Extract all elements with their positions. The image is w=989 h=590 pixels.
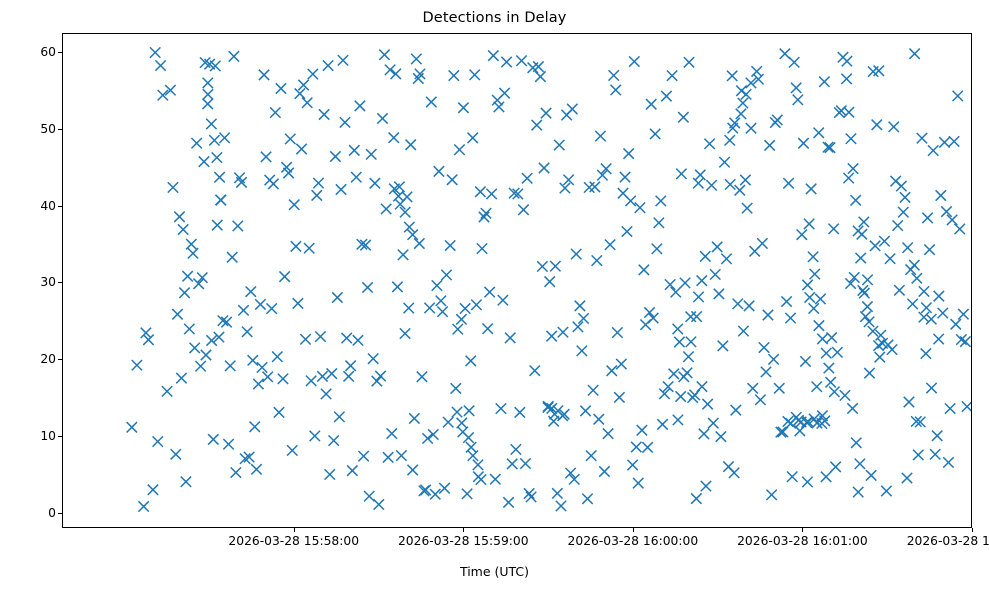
scatter-point [208,434,218,444]
scatter-point [702,399,712,409]
scatter-point [676,169,686,179]
scatter-point [327,368,337,378]
y-tick-label: 40 [10,199,56,213]
scatter-point [188,248,198,258]
scatter-point [875,352,885,362]
scatter-point [902,473,912,483]
scatter-point [387,428,397,438]
scatter-point [225,361,235,371]
scatter-point [306,376,316,386]
scatter-point [428,429,438,439]
scatter-point [693,292,703,302]
scatter-point [406,140,416,150]
scatter-point [436,296,446,306]
scatter-point [951,319,961,329]
scatter-point [586,451,596,461]
scatter-point [855,459,865,469]
scatter-point [178,224,188,234]
scatter-point [567,104,577,114]
scatter-point [383,452,393,462]
scatter-point [578,313,588,323]
scatter-point [372,376,382,386]
scatter-point [805,292,815,302]
scatter-point [366,149,376,159]
scatter-point [496,403,506,413]
scatter-point [791,83,801,93]
scatter-point [515,407,525,417]
scatter-point [546,331,556,341]
scatter-point [298,80,308,90]
scatter-point [349,145,359,155]
scatter-point [355,101,365,111]
scatter-point [924,244,934,254]
scatter-point [823,142,833,152]
scatter-point [368,353,378,363]
scatter-point [746,123,756,133]
x-axis-label: Time (UTC) [0,564,989,579]
scatter-point [633,478,643,488]
scatter-point [516,56,526,66]
scatter-point [661,91,671,101]
scatter-point [201,350,211,360]
scatter-point [392,282,402,292]
scatter-point [699,429,709,439]
scatter-point [272,352,282,362]
scatter-point [186,239,196,249]
scatter-point [864,317,874,327]
scatter-point [475,187,485,197]
scatter-point [853,226,863,236]
scatter-point [155,60,165,70]
chart-title: Detections in Delay [0,10,989,26]
scatter-point [499,88,509,98]
scatter-point [943,457,953,467]
scatter-point [582,494,592,504]
scatter-point [798,138,808,148]
scatter-point [449,70,459,80]
scatter-point [214,172,224,182]
scatter-point [270,107,280,117]
scatter-point [704,139,714,149]
scatter-point [729,468,739,478]
scatter-point [656,196,666,206]
scatter-point [611,85,621,95]
scatter-point [554,140,564,150]
scatter-point [691,493,701,503]
scatter-point [463,432,473,442]
scatter-point [505,333,515,343]
scatter-series-detections [63,34,971,527]
scatter-point [764,140,774,150]
scatter-point [580,406,590,416]
scatter-point [889,122,899,132]
scatter-point [776,427,786,437]
scatter-point [454,145,464,155]
scatter-point [251,464,261,474]
scatter-point [781,296,791,306]
scatter-point [250,422,260,432]
scatter-point [616,359,626,369]
scatter-point [315,331,325,341]
scatter-point [697,275,707,285]
scatter-point [700,251,710,261]
scatter-point [518,205,528,215]
scatter-point [637,425,647,435]
scatter-point [665,279,675,289]
scatter-point [936,190,946,200]
scatter-point [456,314,466,324]
scatter-point [774,383,784,393]
scatter-point [757,238,767,248]
scatter-point [909,49,919,59]
scatter-point [257,362,267,372]
scatter-point [263,372,273,382]
scatter-point [623,148,633,158]
scatter-point [783,178,793,188]
scatter-point [898,207,908,217]
scatter-point [498,295,508,305]
scatter-point [396,450,406,460]
scatter-point [588,385,598,395]
scatter-point [802,280,812,290]
scatter-point [453,324,463,334]
scatter-point [343,371,353,381]
scatter-point [341,333,351,343]
scatter-point [919,312,929,322]
scatter-point [849,272,859,282]
scatter-point [934,291,944,301]
scatter-point [913,450,923,460]
scatter-point [353,335,363,345]
scatter-point [414,238,424,248]
scatter-point [590,182,600,192]
scatter-point [490,474,500,484]
scatter-point [522,173,532,183]
scatter-point [697,381,707,391]
scatter-point [268,179,278,189]
scatter-point [302,98,312,108]
scatter-point [654,218,664,228]
scatter-point [844,107,854,117]
scatter-point [603,428,613,438]
scatter-point [150,47,160,57]
scatter-point [432,280,442,290]
scatter-point [209,135,219,145]
scatter-point [814,320,824,330]
scatter-point [691,311,701,321]
scatter-point [817,334,827,344]
scatter-point [278,374,288,384]
scatter-point [530,365,540,375]
scatter-point [552,488,562,498]
scatter-point [644,307,654,317]
scatter-point [825,142,835,152]
scatter-point [153,436,163,446]
scatter-point [763,310,773,320]
scatter-point [797,229,807,239]
scatter-point [738,326,748,336]
scatter-point [740,175,750,185]
scatter-point [524,488,534,498]
x-tick-label: 2026-03-28 16:02:00 [862,534,989,548]
scatter-point [537,261,547,271]
scatter-point [945,403,955,413]
scatter-point [894,285,904,295]
scatter-point [789,57,799,67]
scatter-point [336,184,346,194]
plot-area [62,33,972,528]
scatter-point [351,172,361,182]
scatter-point [189,343,199,353]
scatter-point [244,452,254,462]
scatter-point [904,397,914,407]
scatter-point [650,129,660,139]
scatter-point [289,200,299,210]
scatter-point [219,133,229,143]
scatter-point [701,481,711,491]
scatter-point [804,219,814,229]
x-tick-mark [633,528,634,532]
scatter-point [330,151,340,161]
y-tick-label: 10 [10,429,56,443]
scatter-point [642,442,652,452]
scatter-point [340,117,350,127]
scatter-point [255,299,265,309]
scatter-point [246,286,256,296]
scatter-point [846,133,856,143]
scatter-point [885,253,895,263]
scatter-point [848,163,858,173]
scatter-point [171,449,181,459]
scatter-point [535,71,545,81]
scatter-point [605,239,615,249]
scatter-point [721,254,731,264]
scatter-point [227,252,237,262]
scatter-point [193,279,203,289]
scatter-point [956,334,966,344]
scatter-point [486,189,496,199]
y-tick-label: 0 [10,506,56,520]
scatter-point [719,157,729,167]
scatter-point [571,249,581,259]
scatter-point [511,444,521,454]
scatter-point [323,60,333,70]
scatter-point [718,341,728,351]
scatter-point [197,272,207,282]
scatter-point [896,181,906,191]
scatter-point [639,265,649,275]
scatter-point [233,221,243,231]
scatter-point [479,212,489,222]
scatter-point [840,390,850,400]
scatter-point [312,190,322,200]
scatter-point [191,138,201,148]
scatter-point [919,286,929,296]
scatter-point [926,383,936,393]
scatter-point [132,360,142,370]
scatter-point [850,195,860,205]
scatter-point [494,102,504,112]
scatter-point [736,109,746,119]
scatter-point [240,454,250,464]
scatter-point [451,383,461,393]
scatter-point [595,131,605,141]
scatter-point [253,379,263,389]
scatter-point [853,487,863,497]
scatter-point [304,243,314,253]
scatter-point [476,474,486,484]
scatter-point [752,66,762,76]
scatter-point [464,406,474,416]
scatter-point [507,459,517,469]
scatter-point [488,50,498,60]
scatter-point [558,327,568,337]
scatter-point [671,287,681,297]
scatter-point [810,269,820,279]
scatter-point [195,361,205,371]
scatter-point [221,317,231,327]
scatter-point [842,56,852,66]
scatter-point [683,352,693,362]
scatter-point [174,212,184,222]
scatter-point [735,185,745,195]
scatter-point [422,433,432,443]
y-tick-label: 20 [10,352,56,366]
scatter-point [375,371,385,381]
scatter-point [780,49,790,59]
scatter-point [203,78,213,88]
scatter-point [409,413,419,423]
scatter-point [358,451,368,461]
scatter-point [462,489,472,499]
scatter-point [755,395,765,405]
scatter-point [907,299,917,309]
scatter-point [473,460,483,470]
scatter-point [761,367,771,377]
scatter-point [809,303,819,313]
scatter-point [902,242,912,252]
scatter-point [364,491,374,501]
scatter-point [127,422,137,432]
scatter-point [912,273,922,283]
scatter-point [229,51,239,61]
scatter-point [667,70,677,80]
scatter-point [843,173,853,183]
scatter-point [577,346,587,356]
scatter-point [545,276,555,286]
x-tick-mark [802,528,803,532]
scatter-point [389,133,399,143]
scatter-point [785,313,795,323]
scatter-point [873,340,883,350]
scatter-point [828,224,838,234]
scatter-point [629,56,639,66]
scatter-point [712,242,722,252]
scatter-point [847,403,857,413]
scatter-point [468,133,478,143]
scatter-point [259,70,269,80]
scatter-point [556,501,566,511]
scatter-point [678,112,688,122]
scatter-point [434,166,444,176]
scatter-point [266,303,276,313]
scatter-point [543,401,553,411]
scatter-point [526,492,536,502]
scatter-point [887,344,897,354]
scatter-point [345,361,355,371]
scatter-point [426,97,436,107]
scatter-point [261,152,271,162]
scatter-point [452,407,462,417]
scatter-point [900,192,910,202]
scatter-point [592,255,602,265]
matplotlib-figure: Detections in Delay Bistatic Delay (km) … [0,0,989,590]
scatter-point [313,178,323,188]
scatter-point [381,204,391,214]
scatter-point [741,89,751,99]
scatter-point [458,103,468,113]
scatter-point [928,145,938,155]
y-tick-label: 50 [10,122,56,136]
scatter-point [575,301,585,311]
scatter-point [710,269,720,279]
scatter-point [238,305,248,315]
scatter-point [627,460,637,470]
scatter-point [285,134,295,144]
scatter-point [864,368,874,378]
scatter-point [909,260,919,270]
scatter-point [300,334,310,344]
scatter-point [675,391,685,401]
scatter-point [162,386,172,396]
scatter-point [800,356,810,366]
scatter-point [539,163,549,173]
scatter-point [377,113,387,123]
scatter-point [325,469,335,479]
scatter-point [242,327,252,337]
x-tick-mark [463,528,464,532]
scatter-point [862,301,872,311]
scatter-point [329,435,339,445]
scatter-point [212,152,222,162]
scatter-point [248,355,258,365]
scatter-point [176,373,186,383]
scatter-point [308,69,318,79]
scatter-point [501,57,511,67]
scatter-point [411,54,421,64]
scatter-point [802,477,812,487]
scatter-point [404,303,414,313]
scatter-point [819,77,829,87]
scatter-point [829,387,839,397]
scatter-point [679,372,689,382]
scatter-point [296,144,306,154]
scatter-point [437,306,447,316]
scatter-point [443,417,453,427]
scatter-point [420,485,430,495]
scatter-point [714,289,724,299]
scatter-point [203,99,213,109]
scatter-point [293,298,303,308]
scatter-point [733,299,743,309]
scatter-point [830,462,840,472]
scatter-point [622,226,632,236]
scatter-point [851,438,861,448]
scatter-point [334,412,344,422]
scatter-point [445,240,455,250]
scatter-point [706,180,716,190]
scatter-point [172,309,182,319]
